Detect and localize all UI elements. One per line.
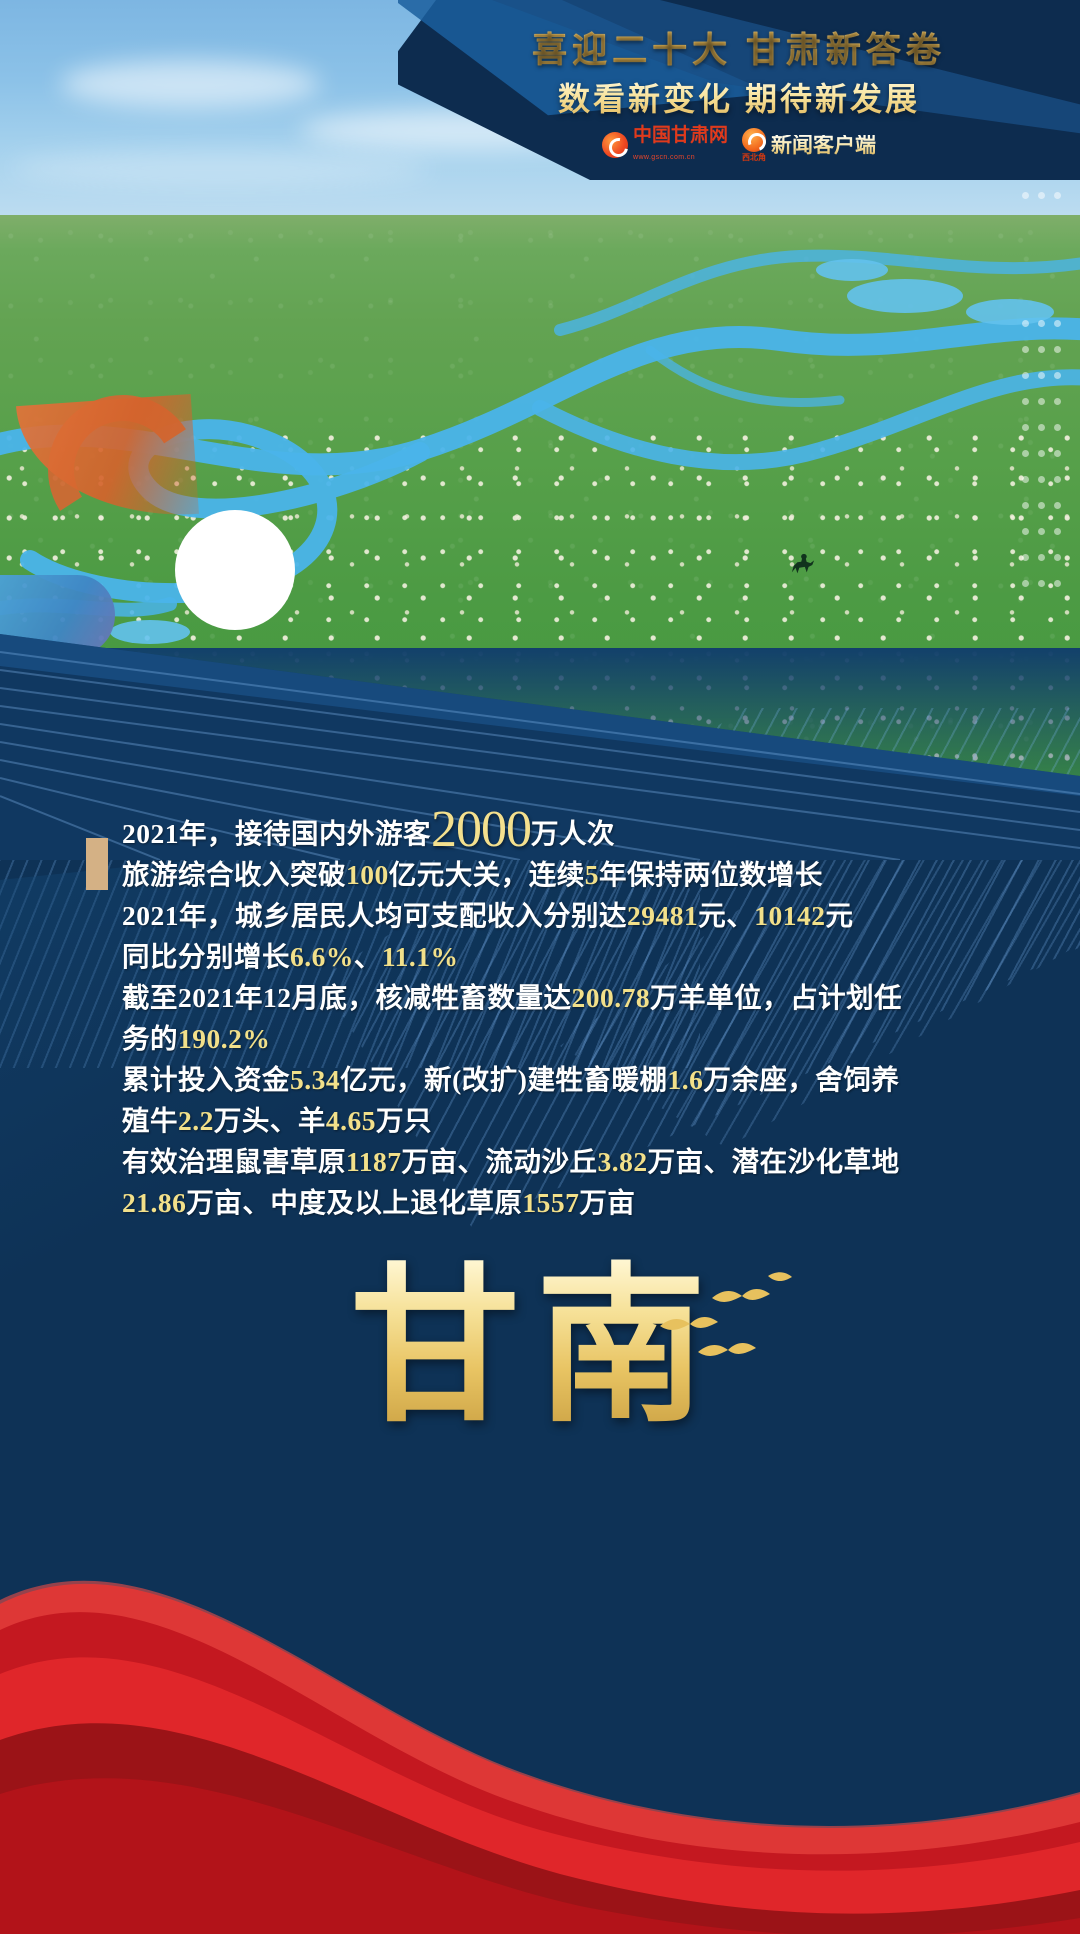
stat-text: 万亩 [579, 1187, 635, 1218]
stat-value: 100 [346, 859, 389, 890]
logo-news-app-sub: 西北角 [742, 152, 766, 163]
header-title-line-1: 喜迎二十大 甘肃新答卷 [398, 22, 1080, 73]
header-title-line-2: 数看新变化 期待新发展 [398, 74, 1080, 120]
stat-text: 万头、羊 [214, 1105, 326, 1136]
stats-text-block: 2021年，接待国内外游客2000万人次旅游综合收入突破100亿元大关，连续5年… [86, 810, 1016, 1223]
logo-gansu-net-url: www.gscn.com.cn [633, 154, 695, 161]
stat-text: 、 [354, 941, 382, 972]
logo-gansu-net-label: 中国甘肃网 [633, 125, 728, 146]
stat-text: 年保持两位数增长 [599, 859, 823, 890]
stat-text: 万只 [376, 1105, 432, 1136]
stat-text: 累计投入资金 [122, 1064, 290, 1095]
stats-line: 累计投入资金5.34亿元，新(改扩)建牲畜暖棚1.6万余座，舍饲养 [122, 1059, 1012, 1100]
stat-value: 5 [585, 859, 599, 890]
stat-text: 有效治理鼠害草原 [122, 1146, 346, 1177]
gansu-net-logo-icon [602, 132, 628, 158]
stats-line: 旅游综合收入突破100亿元大关，连续5年保持两位数增长 [122, 854, 1012, 895]
header-banner: 喜迎二十大 甘肃新答卷 数看新变化 期待新发展 中国甘肃网 www.gscn.c… [398, 0, 1080, 180]
stat-text: 元 [826, 900, 854, 931]
stat-value: 6.6% [290, 941, 354, 972]
publisher-logo-row: 中国甘肃网 www.gscn.com.cn 西北角 新闻客户端 [398, 126, 1080, 164]
city-title-block: 甘南 [350, 1258, 770, 1448]
stat-text: 万亩、潜在沙化草地 [648, 1146, 900, 1177]
stat-text: 万余座，舍饲养 [703, 1064, 899, 1095]
stat-value: 190.2% [178, 1023, 270, 1054]
stat-text: 元、 [698, 900, 754, 931]
accent-bar [86, 838, 108, 890]
logo-gansu-net[interactable]: 中国甘肃网 www.gscn.com.cn [602, 126, 728, 164]
logo-news-app-label: 新闻客户端 [771, 135, 876, 156]
stats-line: 同比分别增长6.6%、11.1% [122, 936, 1012, 977]
stat-text: 万亩、流动沙丘 [401, 1146, 597, 1177]
stats-line: 截至2021年12月底，核减牲畜数量达200.78万羊单位，占计划任 [122, 977, 1012, 1018]
stat-text: 旅游综合收入突破 [122, 859, 346, 890]
stats-line: 有效治理鼠害草原1187万亩、流动沙丘3.82万亩、潜在沙化草地 [122, 1141, 1012, 1182]
stat-text: 2021年，城乡居民人均可支配收入分别达 [122, 900, 627, 931]
stat-value: 2.2 [178, 1105, 214, 1136]
stat-value: 1557 [522, 1187, 579, 1218]
cloud-1 [60, 60, 320, 108]
stat-value: 21.86 [122, 1187, 186, 1218]
cloud-4 [10, 150, 430, 186]
stats-line: 2021年，城乡居民人均可支配收入分别达29481元、10142元 [122, 895, 1012, 936]
stats-line: 务的190.2% [122, 1018, 1012, 1059]
stat-value: 5.34 [290, 1064, 340, 1095]
stat-text: 2021年，接待国内外游客 [122, 818, 431, 849]
stat-value: 200.78 [572, 982, 651, 1013]
stat-text: 务的 [122, 1023, 178, 1054]
stats-line: 2021年，接待国内外游客2000万人次 [122, 810, 1012, 854]
stat-value: 10142 [754, 900, 825, 931]
stat-text: 万羊单位，占计划任 [650, 982, 902, 1013]
stat-value: 1187 [346, 1146, 401, 1177]
stat-text: 亿元，新(改扩)建牲畜暖棚 [340, 1064, 667, 1095]
stats-line-list: 2021年，接待国内外游客2000万人次旅游综合收入突破100亿元大关，连续5年… [122, 810, 1012, 1223]
flying-birds-icon [650, 1268, 810, 1378]
stat-text: 殖牛 [122, 1105, 178, 1136]
horse-rider-icon [788, 552, 818, 578]
stat-value: 29481 [627, 900, 698, 931]
stat-text: 同比分别增长 [122, 941, 290, 972]
stat-value: 11.1% [382, 941, 459, 972]
stat-value: 3.82 [597, 1146, 647, 1177]
logo-news-app[interactable]: 西北角 新闻客户端 [742, 128, 876, 163]
stat-headline-value: 2000 [431, 801, 531, 858]
stat-text: 万亩、中度及以上退化草原 [186, 1187, 522, 1218]
stats-line: 21.86万亩、中度及以上退化草原1557万亩 [122, 1182, 1012, 1223]
stat-text: 亿元大关，连续 [389, 859, 585, 890]
stat-text: 截至2021年12月底，核减牲畜数量达 [122, 982, 572, 1013]
xibeijiao-app-logo-icon [742, 128, 766, 152]
stats-line: 殖牛2.2万头、羊4.65万只 [122, 1100, 1012, 1141]
stat-value: 1.6 [667, 1064, 703, 1095]
stat-text: 万人次 [531, 818, 615, 849]
stat-value: 4.65 [326, 1105, 376, 1136]
